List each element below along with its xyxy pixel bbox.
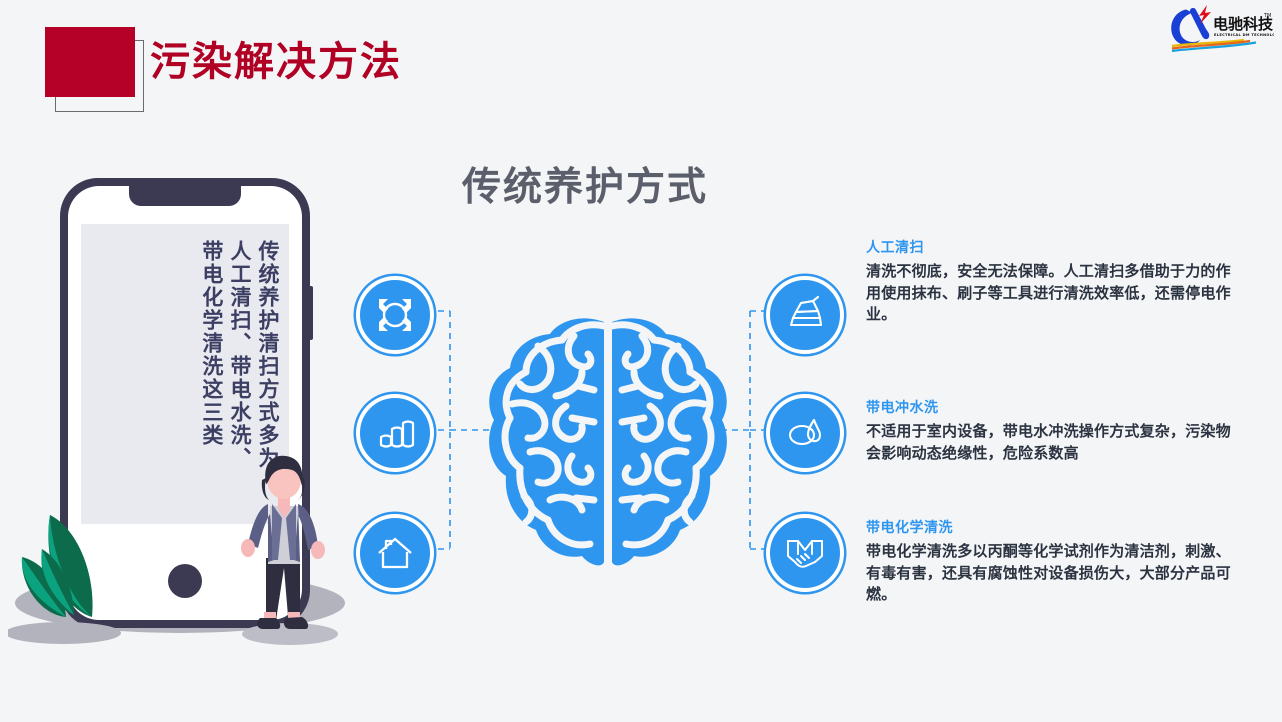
- section-heading: 传统养护方式: [462, 168, 708, 207]
- plant-illustration: [8, 505, 138, 645]
- house-icon: [375, 533, 415, 573]
- info-block-2-title: 带电冲水洗: [866, 400, 1236, 417]
- water-spray-icon: [784, 412, 826, 454]
- info-block-1-body: 清洗不彻底，安全无法保障。人工清扫多借助于力的作用使用抹布、刷子等工具进行清洗效…: [866, 261, 1236, 326]
- phone-notch: [129, 186, 241, 206]
- phone-text-line-1: 传统养护清扫方式多为: [257, 240, 279, 470]
- bar-chart-icon: [375, 413, 415, 453]
- info-block-1-title: 人工清扫: [866, 240, 1236, 257]
- company-logo: 电驰科技 ELECTRICAL DM TECHNOLOGY TM: [1166, 2, 1274, 54]
- svg-text:TM: TM: [1263, 13, 1271, 19]
- right-icon-handshake[interactable]: [766, 514, 844, 592]
- phone-text-line-2: 人工清扫、带电水洗、: [229, 240, 251, 470]
- info-block-3: 带电化学清洗 带电化学清洗多以丙酮等化学试剂作为清洁剂，刺激、有毒有害，还具有腐…: [866, 520, 1236, 606]
- focus-frame-icon: [375, 295, 415, 335]
- brain-illustration: [478, 300, 738, 590]
- left-icon-focus-frame[interactable]: [356, 276, 434, 354]
- right-icon-water-spray[interactable]: [766, 394, 844, 472]
- person-illustration: [232, 448, 342, 648]
- info-block-3-body: 带电化学清洗多以丙酮等化学试剂作为清洁剂，刺激、有毒有害，还具有腐蚀性对设备损伤…: [866, 541, 1236, 606]
- standing-woman-icon: [232, 448, 342, 648]
- phone-text-line-3: 带电化学清洗这三类: [201, 240, 223, 447]
- info-block-2: 带电冲水洗 不适用于室内设备，带电水冲洗操作方式复杂，污染物会影响动态绝缘性，危…: [866, 400, 1236, 464]
- left-icon-bar-chart[interactable]: [356, 394, 434, 472]
- plant-leaves-icon: [8, 505, 138, 645]
- slide-canvas: 污染解决方法 电驰科技 ELECTRICAL DM TECHNOLOGY TM …: [0, 0, 1282, 722]
- svg-text:ELECTRICAL DM TECHNOLOGY: ELECTRICAL DM TECHNOLOGY: [1214, 33, 1274, 37]
- right-icon-broom[interactable]: [766, 276, 844, 354]
- left-icon-house[interactable]: [356, 514, 434, 592]
- broom-icon: [784, 294, 826, 336]
- info-block-3-title: 带电化学清洗: [866, 520, 1236, 537]
- logo-mark: 电驰科技 ELECTRICAL DM TECHNOLOGY TM: [1166, 2, 1274, 54]
- page-title: 污染解决方法: [150, 42, 402, 82]
- phone-side-button: [309, 286, 313, 340]
- handshake-icon: [784, 532, 826, 574]
- slide-header: 污染解决方法: [0, 0, 1282, 130]
- info-block-2-body: 不适用于室内设备，带电水冲洗操作方式复杂，污染物会影响动态绝缘性，危险系数高: [866, 421, 1236, 465]
- info-block-1: 人工清扫 清洗不彻底，安全无法保障。人工清扫多借助于力的作用使用抹布、刷子等工具…: [866, 240, 1236, 326]
- brain-icon: [478, 300, 738, 590]
- header-solid-square: [45, 27, 135, 97]
- phone-home-button: [168, 564, 202, 598]
